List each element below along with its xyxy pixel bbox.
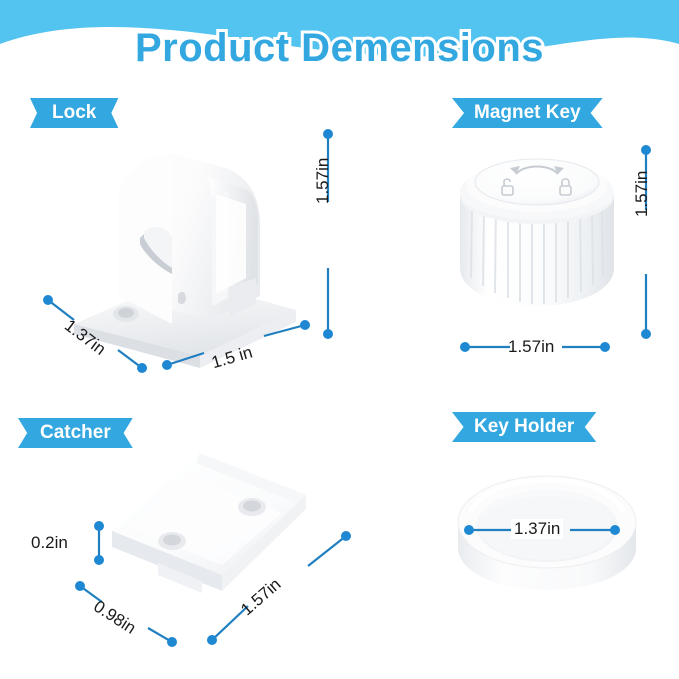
section-label-magnet-key: Magnet Key [452, 98, 603, 128]
page-title: Product Demensions [0, 26, 679, 71]
section-label-catcher: Catcher [18, 418, 133, 448]
catcher-thickness-value: 0.2in [28, 533, 71, 553]
section-label-key-holder: Key Holder [452, 412, 596, 442]
section-label-lock: Lock [30, 98, 118, 128]
magnet-key-diameter-value: 1.57in [505, 337, 557, 357]
infographic-page: Product Demensions Lock [0, 0, 679, 679]
lock-height-value: 1.57in [313, 155, 333, 207]
key-holder-diameter-value: 1.37in [511, 519, 563, 539]
magnet-key-icon [452, 138, 622, 328]
magnet-key-height-value: 1.57in [632, 168, 652, 220]
catcher-thickness-dimension [90, 520, 108, 566]
